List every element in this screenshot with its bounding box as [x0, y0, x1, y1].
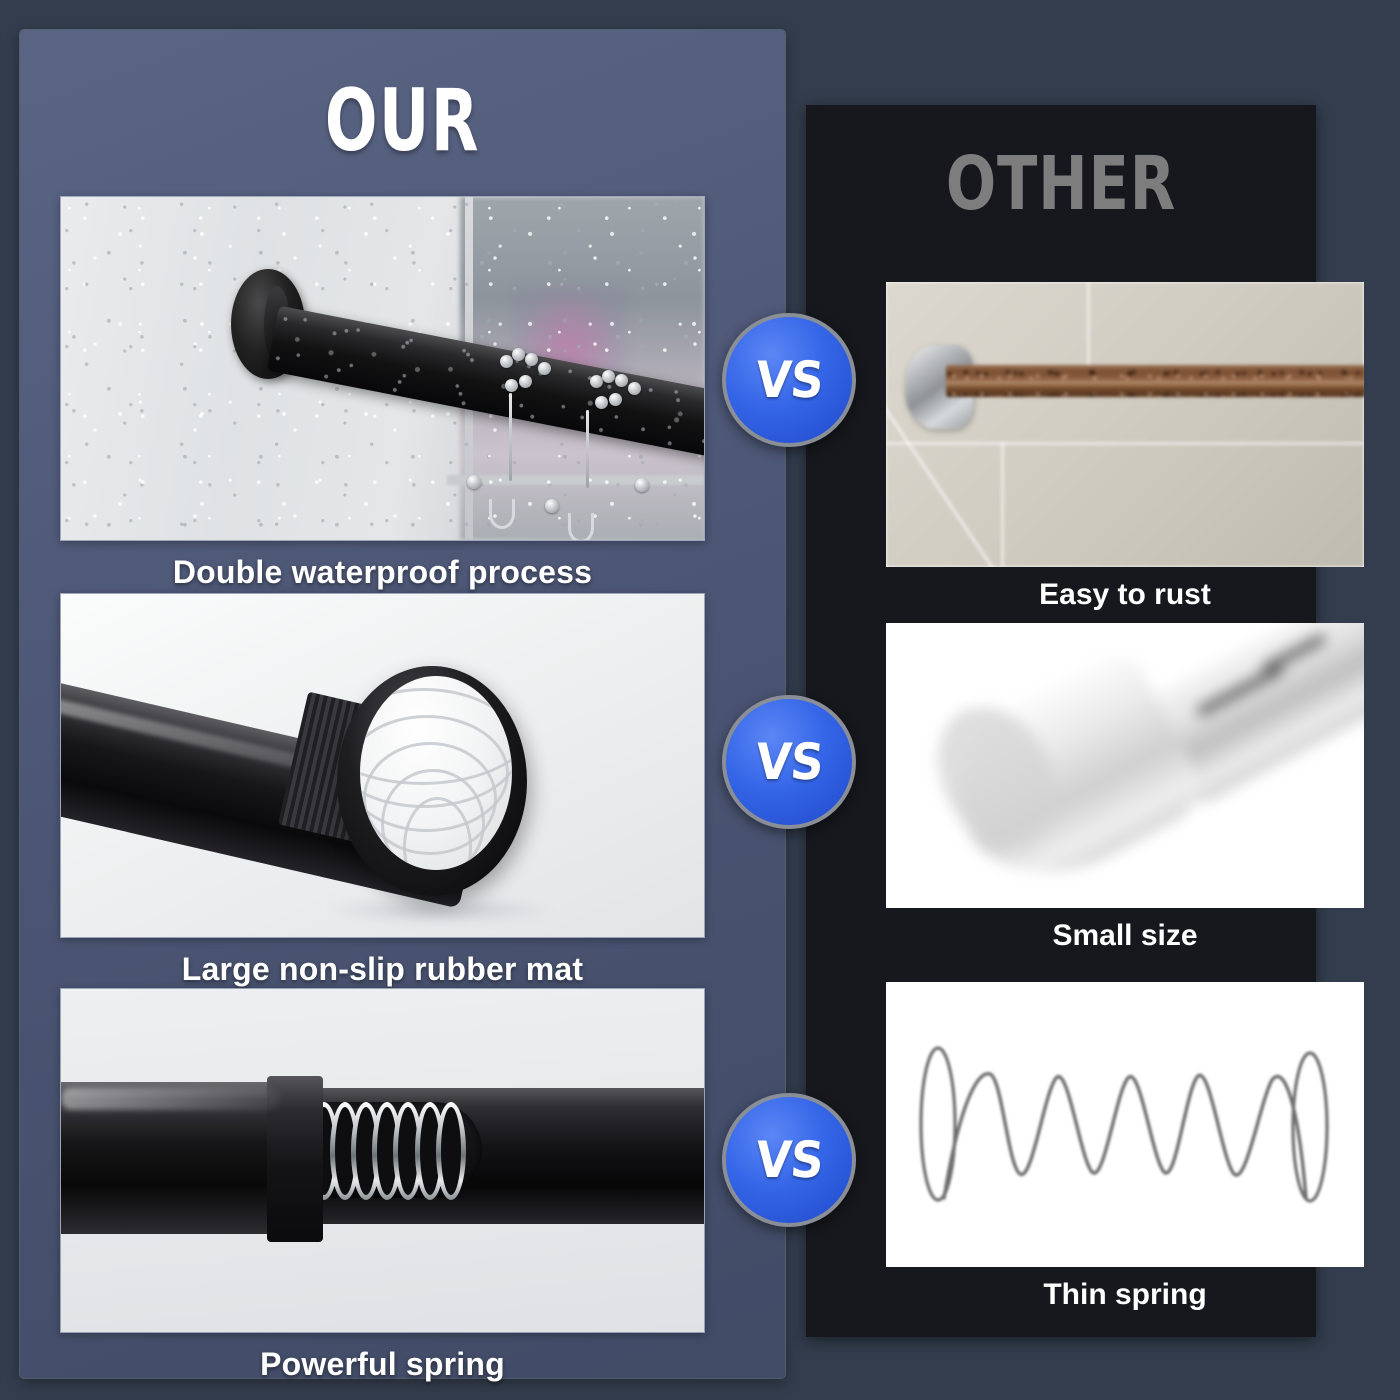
our-panel-title: OUR	[97, 78, 709, 164]
infographic-canvas: OUR	[0, 0, 1400, 1400]
other-panel-title: OTHER	[857, 147, 1265, 221]
other-feature-1-image	[886, 282, 1364, 567]
vs-badge-2-label: VS	[753, 733, 825, 791]
other-feature-3-image	[886, 982, 1364, 1267]
our-feature-1: Double waterproof process	[60, 196, 705, 603]
vs-badge-1-label: VS	[753, 351, 825, 409]
other-feature-3-caption: Thin spring	[886, 1267, 1364, 1323]
our-feature-3-caption: Powerful spring	[60, 1333, 705, 1395]
our-feature-1-image	[60, 196, 705, 541]
our-feature-3: Powerful spring	[60, 988, 705, 1395]
other-feature-2-caption: Small size	[886, 908, 1364, 964]
other-feature-1-caption: Easy to rust	[886, 567, 1364, 623]
our-panel: OUR	[20, 30, 785, 1378]
our-feature-3-image	[60, 988, 705, 1333]
other-feature-2: Small size	[886, 623, 1364, 964]
vs-badge-3: VS	[722, 1093, 856, 1227]
other-feature-2-image	[886, 623, 1364, 908]
vs-badge-1: VS	[722, 313, 856, 447]
our-feature-2-image	[60, 593, 705, 938]
other-feature-1: Easy to rust	[886, 282, 1364, 623]
other-feature-3: Thin spring	[886, 982, 1364, 1323]
other-panel: OTHER Easy to rust	[806, 105, 1316, 1337]
vs-badge-2: VS	[722, 695, 856, 829]
our-feature-2: Large non-slip rubber mat	[60, 593, 705, 1000]
vs-badge-3-label: VS	[753, 1131, 825, 1189]
